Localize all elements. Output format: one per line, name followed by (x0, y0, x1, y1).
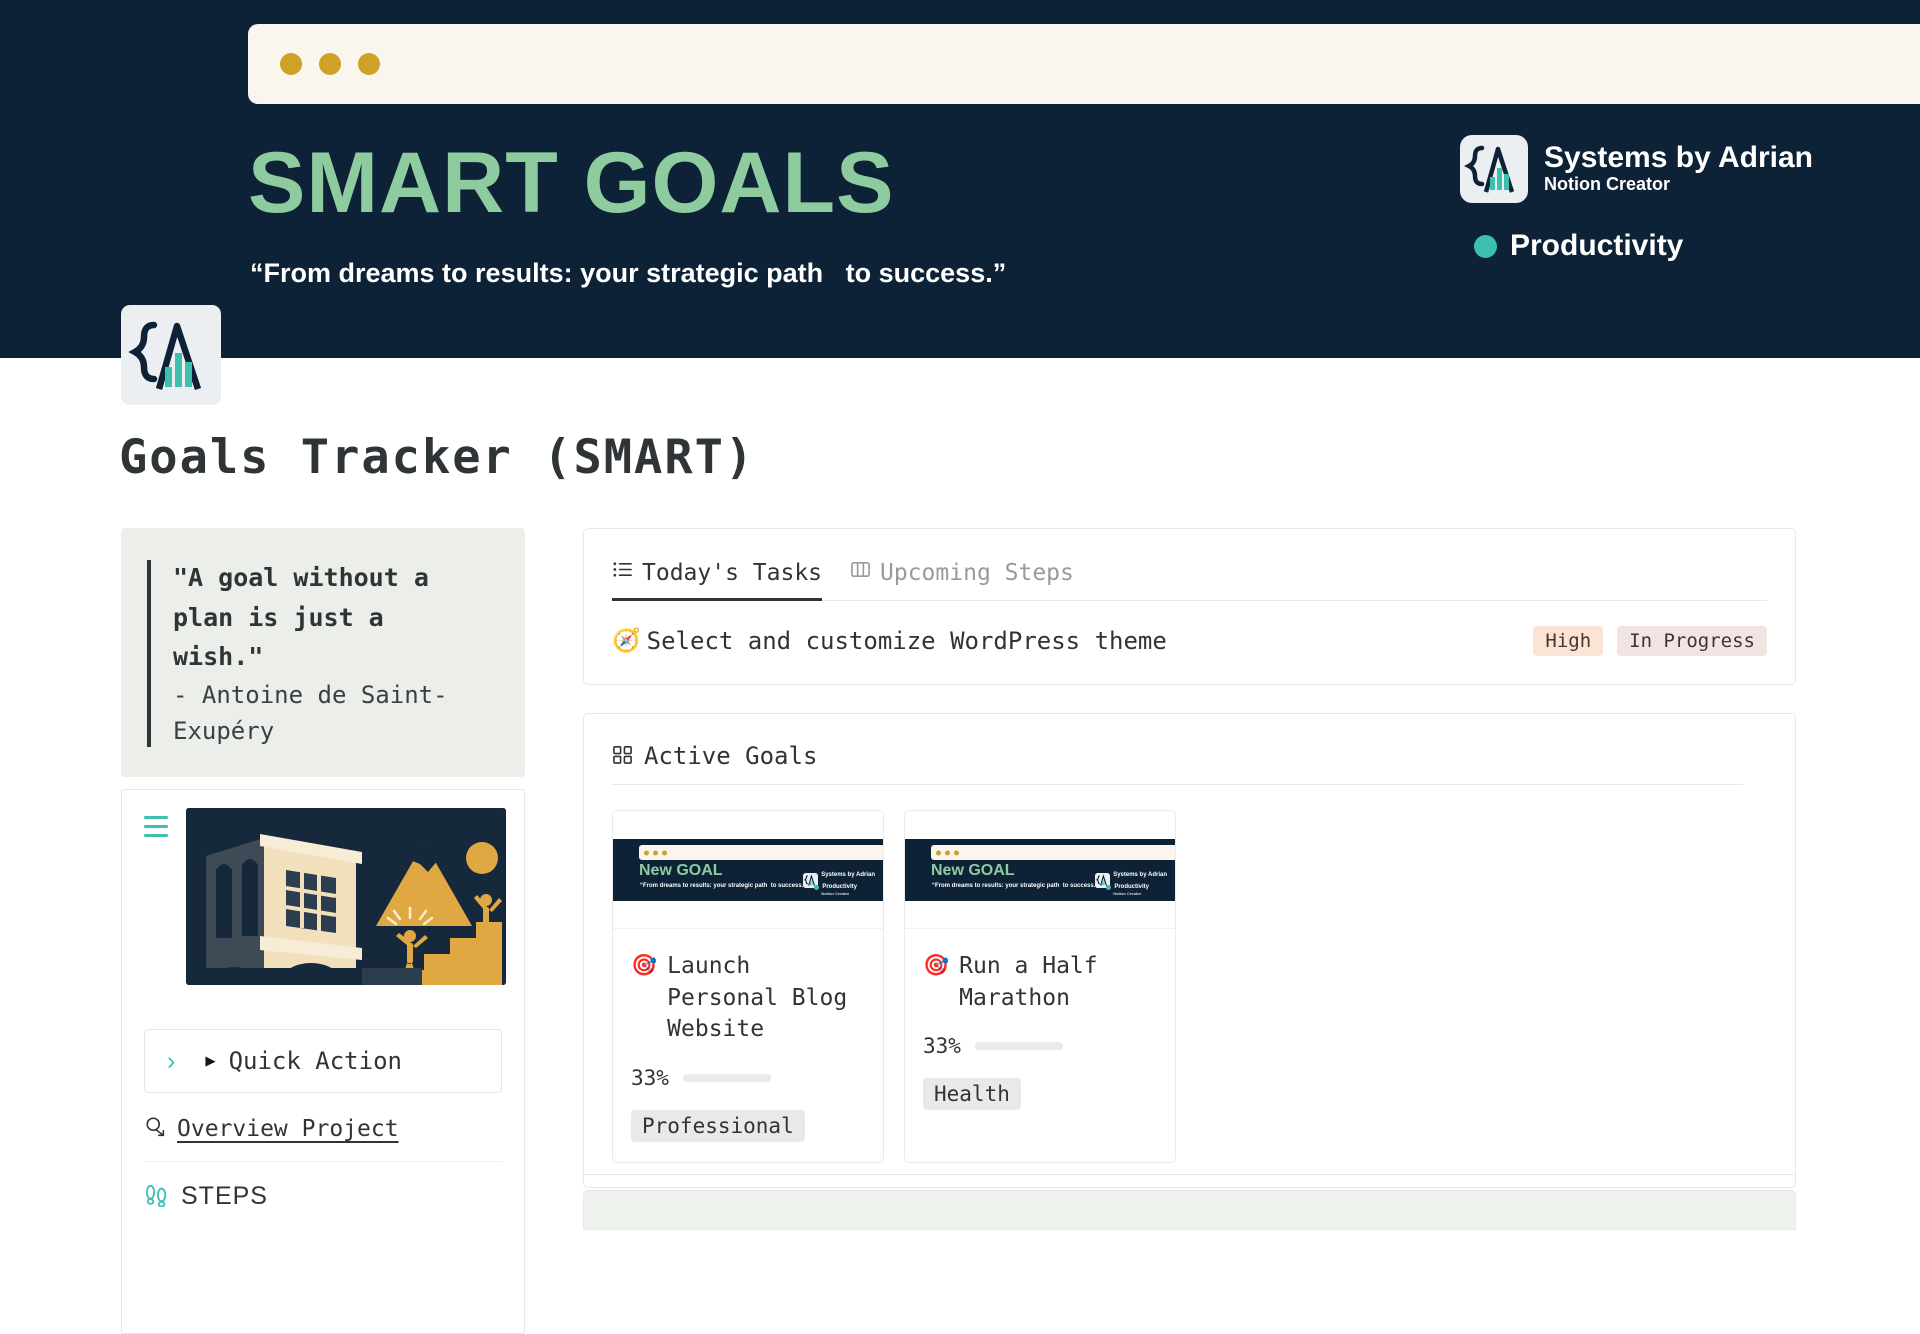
window-chrome-bar (248, 24, 1920, 104)
sidebar-item-overview-project[interactable]: Overview Project (144, 1115, 502, 1162)
target-icon: 🎯 (923, 951, 949, 979)
goal-cover-category-label: Productivity (822, 884, 857, 890)
goal-cover-category: Productivity (814, 884, 857, 890)
quote-attribution: - Antoine de Saint-Exupéry (173, 677, 497, 750)
quick-action-label: Quick Action (229, 1047, 402, 1075)
tab-todays-tasks-label: Today's Tasks (642, 560, 822, 586)
tab-upcoming-steps-label: Upcoming Steps (880, 560, 1074, 586)
brand-role: Notion Creator (1544, 173, 1813, 196)
footprints-icon (144, 1183, 170, 1211)
window-dot-1[interactable] (280, 53, 302, 75)
goal-cover-title: New GOAL (639, 863, 723, 879)
tab-todays-tasks[interactable]: Today's Tasks (612, 559, 822, 600)
goal-progress-bar (975, 1042, 1063, 1050)
goal-progress: 33% (923, 1034, 1157, 1058)
brand-name: Systems by Adrian (1544, 142, 1813, 174)
goal-card[interactable]: New GOAL “From dreams to results: your s… (612, 810, 884, 1163)
goal-title: Run a Half Marathon (959, 951, 1157, 1014)
priority-badge: High (1533, 626, 1603, 656)
goal-cover-banner: New GOAL “From dreams to results: your s… (905, 839, 1175, 901)
active-goals-header: Active Goals (612, 742, 1743, 785)
right-column: Today's Tasks Upcoming Steps 🧭 Selec (583, 528, 1796, 1188)
goal-cover-dots (644, 850, 667, 855)
hamburger-icon[interactable] (144, 816, 168, 843)
magnifier-arrow-icon (144, 1115, 168, 1143)
goal-cover: New GOAL “From dreams to results: your s… (905, 811, 1175, 929)
next-section-panel (583, 1190, 1796, 1230)
goal-tag: Health (923, 1078, 1021, 1110)
quote-card: "A goal without a plan is just a wish." … (121, 528, 525, 777)
goal-cover-brand: Systems by Adrian Notion Creator (803, 861, 875, 899)
active-goals-label: Active Goals (644, 742, 817, 770)
category-label: Productivity (1510, 229, 1683, 263)
goal-cover-category: Productivity (1106, 884, 1149, 890)
goal-cover-subtitle: “From dreams to results: your strategic … (932, 883, 1098, 889)
task-row[interactable]: 🧭 Select and customize WordPress theme H… (612, 601, 1767, 684)
tasks-panel: Today's Tasks Upcoming Steps 🧭 Selec (583, 528, 1796, 685)
goal-cover-category-dot-icon (1106, 885, 1111, 890)
page-icon (121, 305, 221, 405)
goal-tag: Professional (631, 1110, 805, 1142)
quote-accent-bar (147, 560, 151, 747)
window-dot-2[interactable] (319, 53, 341, 75)
goal-cover-title: New GOAL (931, 863, 1015, 879)
goal-cover-window-bar (931, 845, 1175, 860)
tab-upcoming-steps[interactable]: Upcoming Steps (850, 559, 1074, 600)
goal-card[interactable]: New GOAL “From dreams to results: your s… (904, 810, 1176, 1163)
goal-cover-category-dot-icon (814, 885, 819, 890)
goal-title: Launch Personal Blog Website (667, 951, 865, 1046)
brand-logo-icon (1460, 135, 1528, 203)
goal-progress-bar (683, 1074, 771, 1082)
header-banner: SMART GOALS “From dreams to results: you… (0, 0, 1920, 358)
quick-action-button[interactable]: › ▶ Quick Action (144, 1029, 502, 1093)
active-goals-panel: Active Goals New GOAL “From dre (583, 713, 1796, 1188)
overview-project-label: Overview Project (177, 1116, 399, 1142)
task-title: Select and customize WordPress theme (647, 627, 1520, 655)
chevron-right-icon[interactable]: › (167, 1049, 175, 1074)
list-icon (612, 559, 633, 586)
goal-cover: New GOAL “From dreams to results: your s… (613, 811, 883, 929)
goal-progress-label: 33% (631, 1066, 669, 1090)
goal-cover-window-bar (639, 845, 883, 860)
goal-cards: New GOAL “From dreams to results: your s… (612, 810, 1767, 1163)
goal-cover-banner: New GOAL “From dreams to results: your s… (613, 839, 883, 901)
window-dots (280, 53, 380, 75)
goal-progress: 33% (631, 1066, 865, 1090)
goal-cover-brand-role: Notion Creator (1113, 891, 1141, 896)
compass-icon: 🧭 (612, 630, 641, 653)
section-divider (583, 1174, 1796, 1175)
goal-cover-brand: Systems by Adrian Notion Creator (1095, 861, 1167, 899)
goal-cover-brand-name: Systems by Adrian (821, 872, 875, 878)
banner-title: SMART GOALS (248, 140, 894, 226)
goal-cover-dots (936, 850, 959, 855)
goal-progress-label: 33% (923, 1034, 961, 1058)
brand-block: Systems by Adrian Notion Creator Product… (1460, 135, 1890, 263)
brand-category: Productivity (1474, 229, 1890, 263)
steps-label: STEPS (181, 1182, 268, 1211)
goal-cover-brand-role: Notion Creator (821, 891, 849, 896)
goal-climb-illustration (186, 808, 506, 985)
quote-text: "A goal without a plan is just a wish." (173, 558, 497, 677)
category-dot-icon (1474, 235, 1497, 258)
caret-right-icon[interactable]: ▶ (205, 1053, 215, 1070)
task-tabs: Today's Tasks Upcoming Steps (612, 559, 1767, 601)
window-dot-3[interactable] (358, 53, 380, 75)
grid-icon (612, 744, 633, 769)
status-badge: In Progress (1617, 626, 1767, 656)
goal-cover-brand-name: Systems by Adrian (1113, 872, 1167, 878)
banner-subtitle: “From dreams to results: your strategic … (250, 258, 1006, 289)
page-title: Goals Tracker (SMART) (119, 430, 755, 485)
sidebar-item-steps[interactable]: STEPS (144, 1182, 502, 1211)
target-icon: 🎯 (631, 951, 657, 979)
goal-cover-category-label: Productivity (1114, 884, 1149, 890)
sidebar-panel: › ▶ Quick Action Overview Project (121, 789, 525, 1334)
board-icon (850, 559, 871, 586)
left-column: "A goal without a plan is just a wish." … (121, 528, 525, 1334)
goal-cover-subtitle: “From dreams to results: your strategic … (640, 883, 806, 889)
